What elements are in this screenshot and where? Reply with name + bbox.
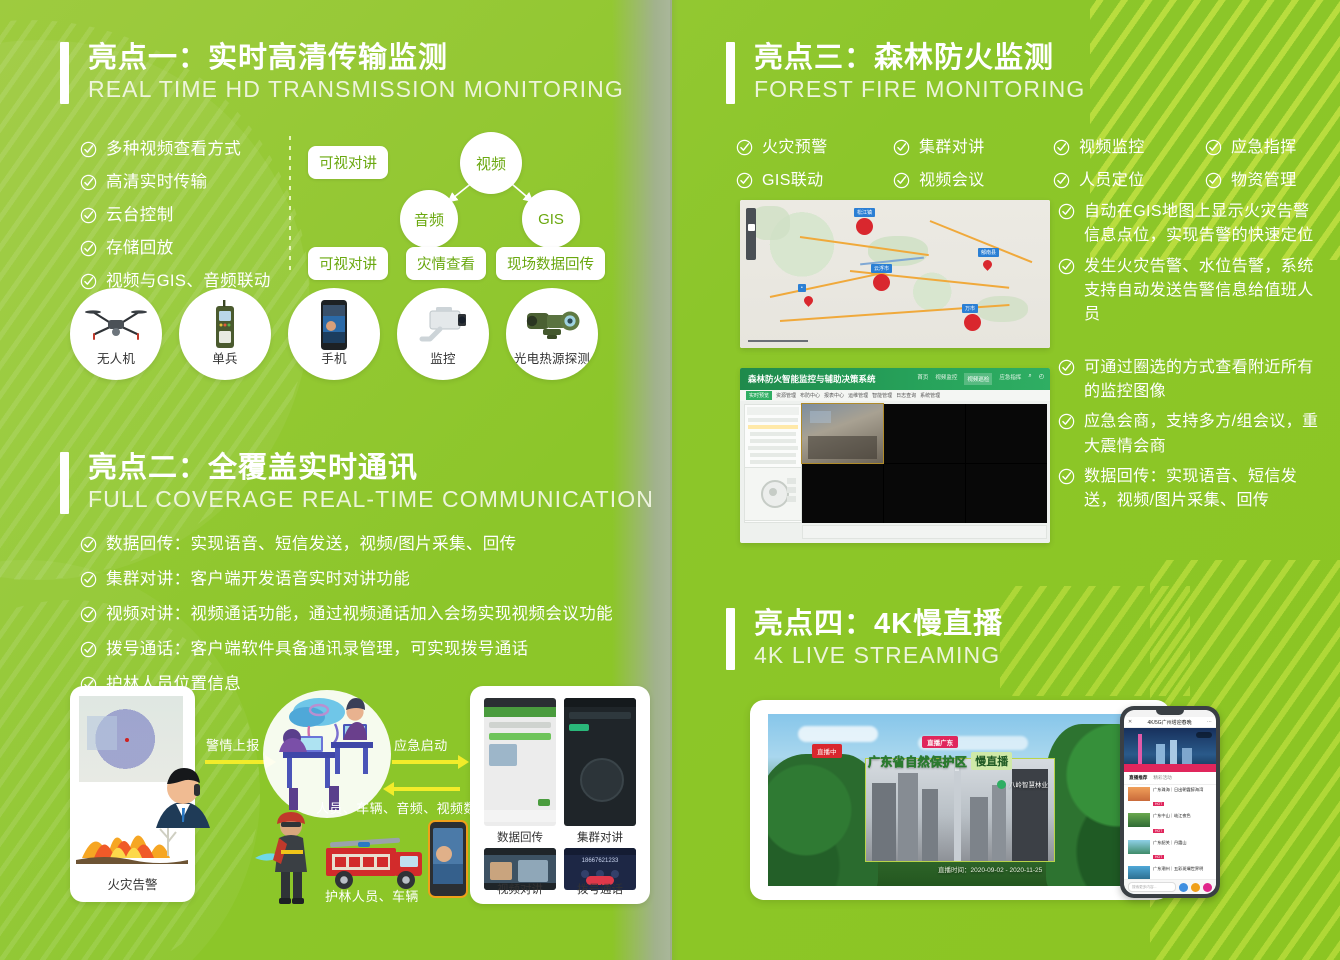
section-2-bullet-list: 数据回传：实现语音、短信发送，视频/图片采集、回传 集群对讲：客户端开发语音实时…: [80, 533, 613, 708]
flow-label-ranger-vehicle: 护林人员、车辆: [325, 886, 419, 905]
node-video: 视频: [460, 132, 522, 194]
bullet-label: 拨号通话：客户端软件具备通讯录管理，可实现拨号通话: [106, 638, 529, 662]
device-cctv: 监控: [397, 288, 489, 380]
live-footer-timestamp: 直播时间：2020-09-02 - 2020-11-25: [938, 864, 1042, 874]
phone-caption-video-intercom: 视频对讲: [484, 881, 556, 897]
note-label: 可通过圈选的方式查看附近所有的监控图像: [1084, 356, 1320, 405]
check-circle-icon: [1058, 468, 1075, 485]
gis-map-screenshot: 松江镇 云浮市 郁南县 万市 •: [740, 200, 1050, 348]
node-video-label: 视频: [476, 153, 506, 174]
heading-accent-bar: [726, 608, 735, 670]
cctv-camera-icon: [397, 301, 489, 349]
check-circle-icon: [736, 139, 753, 156]
tag-item: 人员定位: [1053, 169, 1205, 192]
comment-icon[interactable]: [1203, 883, 1212, 892]
note-item: 数据回传：实现语音、短信发送，视频/图片采集、回传: [1058, 465, 1320, 514]
tag-label: 应急指挥: [1231, 136, 1297, 159]
check-circle-icon: [80, 571, 97, 588]
phone-tab[interactable]: 直播推荐: [1129, 775, 1147, 781]
live-banner-small: 直播广东: [922, 736, 958, 748]
device-label: 监控: [430, 348, 455, 367]
bullet-item: 数据回传：实现语音、短信发送，视频/图片采集、回传: [80, 533, 613, 557]
tag-label: GIS联动: [762, 169, 824, 192]
node-gis: GIS: [522, 190, 580, 248]
map-marker-label: 万市: [962, 304, 978, 313]
check-circle-icon: [893, 172, 910, 189]
check-circle-icon: [80, 536, 97, 553]
like-icon[interactable]: [1191, 883, 1200, 892]
section-4-title-cn: 亮点四：4K慢直播: [754, 608, 1003, 640]
note-label: 应急会商，支持多方/组会议，重大震情会商: [1084, 410, 1320, 459]
note-item: 自动在GIS地图上显示火灾告警信息点位，实现告警的快速定位: [1058, 200, 1320, 249]
section-3-notes: 自动在GIS地图上显示火灾告警信息点位，实现告警的快速定位 发生火灾告警、水位告…: [1058, 200, 1320, 520]
bullet-label: 数据回传：实现语音、短信发送，视频/图片采集、回传: [106, 533, 517, 557]
phone-title-label: 4K/5G广州塔迎春晚: [1132, 719, 1207, 726]
video-tile-active[interactable]: [802, 404, 883, 463]
list-item-title: 广东中山｜岐江夜色: [1153, 813, 1212, 818]
vertical-dotted-divider: [289, 136, 291, 272]
bullet-item: 云台控制: [80, 204, 271, 228]
section-2-title-cn: 亮点二：全覆盖实时通讯: [88, 452, 654, 484]
dial-number: 18667621233: [564, 858, 636, 864]
live-video-frame: 八岭智慧林业: [865, 758, 1055, 862]
share-icon[interactable]: [1179, 883, 1188, 892]
heading-accent-bar: [60, 452, 69, 514]
section-1-title-cn: 亮点一：实时高清传输监测: [88, 42, 624, 74]
check-circle-icon: [893, 139, 910, 156]
list-item-title: 广东珠海｜日出朝霞醉海湾: [1153, 787, 1212, 792]
software-tab[interactable]: 日志查询: [896, 392, 916, 399]
tag-item: 集群对讲: [893, 136, 1053, 159]
check-circle-icon: [80, 207, 97, 224]
live-channel-badge: 八岭智慧林业: [997, 779, 1048, 789]
pill-video-intercom-bottom: 可视对讲: [308, 247, 388, 280]
tag-item: 视频监控: [1053, 136, 1205, 159]
live-channel-name: 八岭智慧林业: [1009, 779, 1048, 789]
bullet-label: 存储回放: [106, 237, 174, 261]
check-circle-icon: [80, 641, 97, 658]
note-item: 应急会商，支持多方/组会议，重大震情会商: [1058, 410, 1320, 459]
mobile-phone-icon: [288, 301, 380, 349]
tag-label: 视频监控: [1079, 136, 1145, 159]
phone-caption-group-intercom: 集群对讲: [564, 829, 636, 845]
section-1-title-en: REAL TIME HD TRANSMISSION MONITORING: [88, 74, 624, 105]
more-icon[interactable]: ⋯: [1207, 719, 1212, 725]
section-1-node-diagram: 视频 音频 GIS 可视对讲 可视对讲 灾情查看 现场数据回传: [300, 130, 630, 280]
heading-accent-bar: [60, 42, 69, 104]
video-wall: [802, 404, 1047, 523]
list-item-title: 广东潮州｜五彩斑斓世界明: [1153, 866, 1212, 871]
video-tile[interactable]: [966, 464, 1047, 523]
device-handheld: 单兵: [179, 288, 271, 380]
bullet-item: 拨号通话：客户端软件具备通讯录管理，可实现拨号通话: [80, 638, 613, 662]
phone-search-input[interactable]: 搜索更多内容...: [1128, 882, 1176, 892]
list-item[interactable]: 广东珠海｜日出朝霞醉海湾HOT: [1128, 787, 1212, 810]
phone-list: 广东珠海｜日出朝霞醉海湾HOT 广东中山｜岐江夜色HOT 广东韶关｜丹霞山HOT: [1124, 785, 1216, 894]
software-nav-item[interactable]: 应急指挥: [999, 373, 1021, 385]
section-2-heading: 亮点二：全覆盖实时通讯 FULL COVERAGE REAL-TIME COMM…: [60, 452, 654, 516]
video-tile[interactable]: [884, 464, 965, 523]
check-circle-icon: [1058, 258, 1075, 275]
software-screenshot: 森林防火智能监控与辅助决策系统 首页 视频监控 视频巡检 应急指挥 ⌕ ◴ 实时…: [740, 368, 1050, 543]
phone-bottom-bar: 搜索更多内容...: [1124, 879, 1216, 894]
software-tab[interactable]: 智能管理: [872, 392, 892, 399]
check-circle-icon: [1205, 172, 1222, 189]
bullet-item: 存储回放: [80, 237, 271, 261]
phone-screen-group-intercom: [564, 698, 636, 826]
list-item[interactable]: 广东韶关｜丹霞山HOT: [1128, 840, 1212, 863]
section-3-heading: 亮点三：森林防火监测 FOREST FIRE MONITORING: [726, 42, 1085, 106]
check-circle-icon: [80, 606, 97, 623]
section-3-title-cn: 亮点三：森林防火监测: [754, 42, 1085, 74]
section-1-heading: 亮点一：实时高清传输监测 REAL TIME HD TRANSMISSION M…: [60, 42, 624, 106]
phone-caption-dial-call: 拨号通话: [564, 881, 636, 897]
check-circle-icon: [1053, 139, 1070, 156]
device-mobile: 手机: [288, 288, 380, 380]
flow-arrow-dispatch: [392, 760, 460, 764]
note-label: 数据回传：实现语音、短信发送，视频/图片采集、回传: [1084, 465, 1320, 514]
tag-label: 视频会议: [919, 169, 985, 192]
pill-label: 可视对讲: [319, 156, 377, 172]
bullet-item: 多种视频查看方式: [80, 138, 271, 162]
reporter-illustration: [148, 760, 218, 830]
flow-arrow-report: [205, 760, 267, 764]
check-circle-icon: [1205, 139, 1222, 156]
device-circle-row: 无人机 单兵: [70, 288, 598, 380]
phone-mockup-card: 数据回传 集群对讲 视频对讲 18667621233: [470, 686, 650, 904]
handheld-terminal-icon: [179, 301, 271, 349]
tag-item: 应急指挥: [1205, 136, 1340, 159]
pill-label: 现场数据回传: [507, 257, 594, 273]
node-audio: 音频: [400, 190, 458, 248]
device-label: 光电热源探测: [514, 348, 590, 367]
tag-label: 集群对讲: [919, 136, 985, 159]
software-tab[interactable]: 系统管理: [920, 392, 940, 399]
note-item: 可通过圈选的方式查看附近所有的监控图像: [1058, 356, 1320, 405]
note-label: 发生火灾告警、水位告警，系统支持自动发送告警信息给值班人员: [1084, 255, 1320, 328]
software-tab[interactable]: 运维管理: [848, 392, 868, 399]
flow-label-data: 人员、车辆、音频、视频数据: [316, 798, 490, 817]
software-tabbar: 实时预览 资源管理 布防中心 报表中心 运维管理 智能管理 日志查询 系统管理: [740, 390, 1050, 401]
device-thermal: 光电热源探测: [506, 288, 598, 380]
map-marker-label: 松江镇: [854, 208, 875, 217]
rugged-phone-illustration: [428, 820, 468, 898]
section-1-bullet-list: 多种视频查看方式 高清实时传输 云台控制 存储回放: [80, 138, 271, 303]
thermal-detector-icon: [506, 301, 598, 349]
check-circle-icon: [80, 240, 97, 257]
video-tile[interactable]: [802, 464, 883, 523]
firefighter-illustration: [255, 810, 325, 905]
tag-item: 物资管理: [1205, 169, 1340, 192]
check-circle-icon: [1058, 203, 1075, 220]
section-2-title-en: FULL COVERAGE REAL-TIME COMMUNICATION: [88, 484, 654, 515]
video-tile[interactable]: [966, 404, 1047, 463]
live-banner-tag: 慢直播: [971, 752, 1012, 770]
live-badge-label: 直播中: [817, 749, 837, 756]
software-tab[interactable]: 资源管理: [776, 392, 796, 399]
phone-screen-data-return: [484, 698, 556, 826]
section-3-title-en: FOREST FIRE MONITORING: [754, 74, 1085, 105]
bullet-label: 高清实时传输: [106, 171, 207, 195]
software-title: 森林防火智能监控与辅助决策系统: [748, 373, 876, 385]
tag-item: GIS联动: [736, 169, 893, 192]
note-item: 发生火灾告警、水位告警，系统支持自动发送告警信息给值班人员: [1058, 255, 1320, 328]
phone-caption-data-return: 数据回传: [484, 829, 556, 845]
phone-tab[interactable]: 精彩活动: [1153, 775, 1171, 781]
fire-alarm-caption: 火灾告警: [70, 874, 195, 893]
tag-label: 火灾预警: [762, 136, 828, 159]
ptz-control-panel[interactable]: [744, 467, 802, 521]
live-phone-mockup: ✕ 4K/5G广州塔迎春晚 ⋯ 直播推荐 精彩活动: [1120, 706, 1220, 898]
map-marker-label: 云浮市: [871, 264, 892, 273]
section-4-heading: 亮点四：4K慢直播 4K LIVE STREAMING: [726, 608, 1003, 672]
list-item[interactable]: 广东中山｜岐江夜色HOT: [1128, 813, 1212, 836]
tag-item: 视频会议: [893, 169, 1053, 192]
map-marker-label: •: [798, 284, 806, 292]
section-3-tag-grid: 火灾预警 集群对讲 视频监控 应急指挥 GIS联动 视频会议: [736, 136, 1340, 192]
live-stream-screenshot: 八岭智慧林业 直播中 直播广东 广东省自然保护区 慢直播 直播时间：2020-0…: [768, 714, 1152, 886]
check-circle-icon: [80, 174, 97, 191]
phone-tabbar: 直播推荐 精彩活动: [1124, 772, 1216, 785]
pill-label: 灾情查看: [417, 257, 475, 273]
section-4-title-en: 4K LIVE STREAMING: [754, 640, 1003, 671]
software-nav-item[interactable]: 首页: [917, 373, 928, 385]
bullet-item: 视频对讲：视频通话功能，通过视频通话加入会场实现视频会议功能: [80, 603, 613, 627]
bullet-label: 多种视频查看方式: [106, 138, 241, 162]
note-label: 自动在GIS地图上显示火灾告警信息点位，实现告警的快速定位: [1084, 200, 1320, 249]
pill-video-intercom-top: 可视对讲: [308, 146, 388, 179]
bullet-label: 云台控制: [106, 204, 174, 228]
device-label: 无人机: [97, 348, 135, 367]
search-icon[interactable]: ⌕: [1028, 373, 1031, 385]
check-circle-icon: [736, 172, 753, 189]
software-nav-item[interactable]: 视频监控: [935, 373, 957, 385]
drone-icon: [70, 301, 162, 349]
tag-item: 火灾预警: [736, 136, 893, 159]
user-avatar-icon[interactable]: ◴: [1039, 373, 1044, 385]
software-statusbar: [802, 525, 1047, 539]
list-item-title: 广东韶关｜丹霞山: [1153, 840, 1212, 845]
phone-hero-image: [1124, 728, 1216, 772]
live-banner: 直播广东 广东省自然保护区 慢直播: [868, 732, 1012, 770]
pill-disaster-view: 灾情查看: [406, 247, 486, 280]
software-titlebar: 森林防火智能监控与辅助决策系统 首页 视频监控 视频巡检 应急指挥 ⌕ ◴: [740, 368, 1050, 390]
flow-label-report: 警情上报: [206, 735, 260, 754]
map-marker-label: 郁南县: [978, 248, 999, 257]
video-tile[interactable]: [884, 404, 965, 463]
software-nav-item[interactable]: 视频巡检: [964, 373, 992, 385]
node-gis-label: GIS: [538, 211, 564, 228]
device-drone: 无人机: [70, 288, 162, 380]
software-tab[interactable]: 报表中心: [824, 392, 844, 399]
live-stream-card: 八岭智慧林业 直播中 直播广东 广东省自然保护区 慢直播 直播时间：2020-0…: [750, 700, 1170, 900]
check-circle-icon: [1058, 413, 1075, 430]
tag-label: 人员定位: [1079, 169, 1145, 192]
right-column: 亮点三：森林防火监测 FOREST FIRE MONITORING 火灾预警 集…: [672, 0, 1340, 960]
tag-label: 物资管理: [1231, 169, 1297, 192]
check-circle-icon: [1053, 172, 1070, 189]
live-badge: 直播中: [812, 744, 842, 758]
check-circle-icon: [1058, 359, 1075, 376]
flow-arrow-return: [392, 787, 460, 791]
pill-field-data-return: 现场数据回传: [496, 247, 605, 280]
bullet-item: 高清实时传输: [80, 171, 271, 195]
brochure-page: 亮点一：实时高清传输监测 REAL TIME HD TRANSMISSION M…: [0, 0, 1340, 960]
phone-nav-title: ✕ 4K/5G广州塔迎春晚 ⋯: [1124, 717, 1216, 728]
check-circle-icon: [80, 141, 97, 158]
bullet-label: 视频对讲：视频通话功能，通过视频通话加入会场实现视频会议功能: [106, 603, 613, 627]
live-banner-main: 广东省自然保护区: [868, 753, 967, 770]
flow-label-dispatch: 应急启动: [394, 735, 448, 754]
bullet-label: 集群对讲：客户端开发语音实时对讲功能: [106, 568, 410, 592]
node-audio-label: 音频: [414, 209, 444, 230]
pill-label: 可视对讲: [319, 257, 377, 273]
software-tab[interactable]: 布防中心: [800, 392, 820, 399]
software-tab[interactable]: 实时预览: [746, 391, 772, 400]
device-label: 单兵: [212, 348, 237, 367]
left-column: 亮点一：实时高清传输监测 REAL TIME HD TRANSMISSION M…: [0, 0, 660, 960]
heading-accent-bar: [726, 42, 735, 104]
bullet-item: 集群对讲：客户端开发语音实时对讲功能: [80, 568, 613, 592]
